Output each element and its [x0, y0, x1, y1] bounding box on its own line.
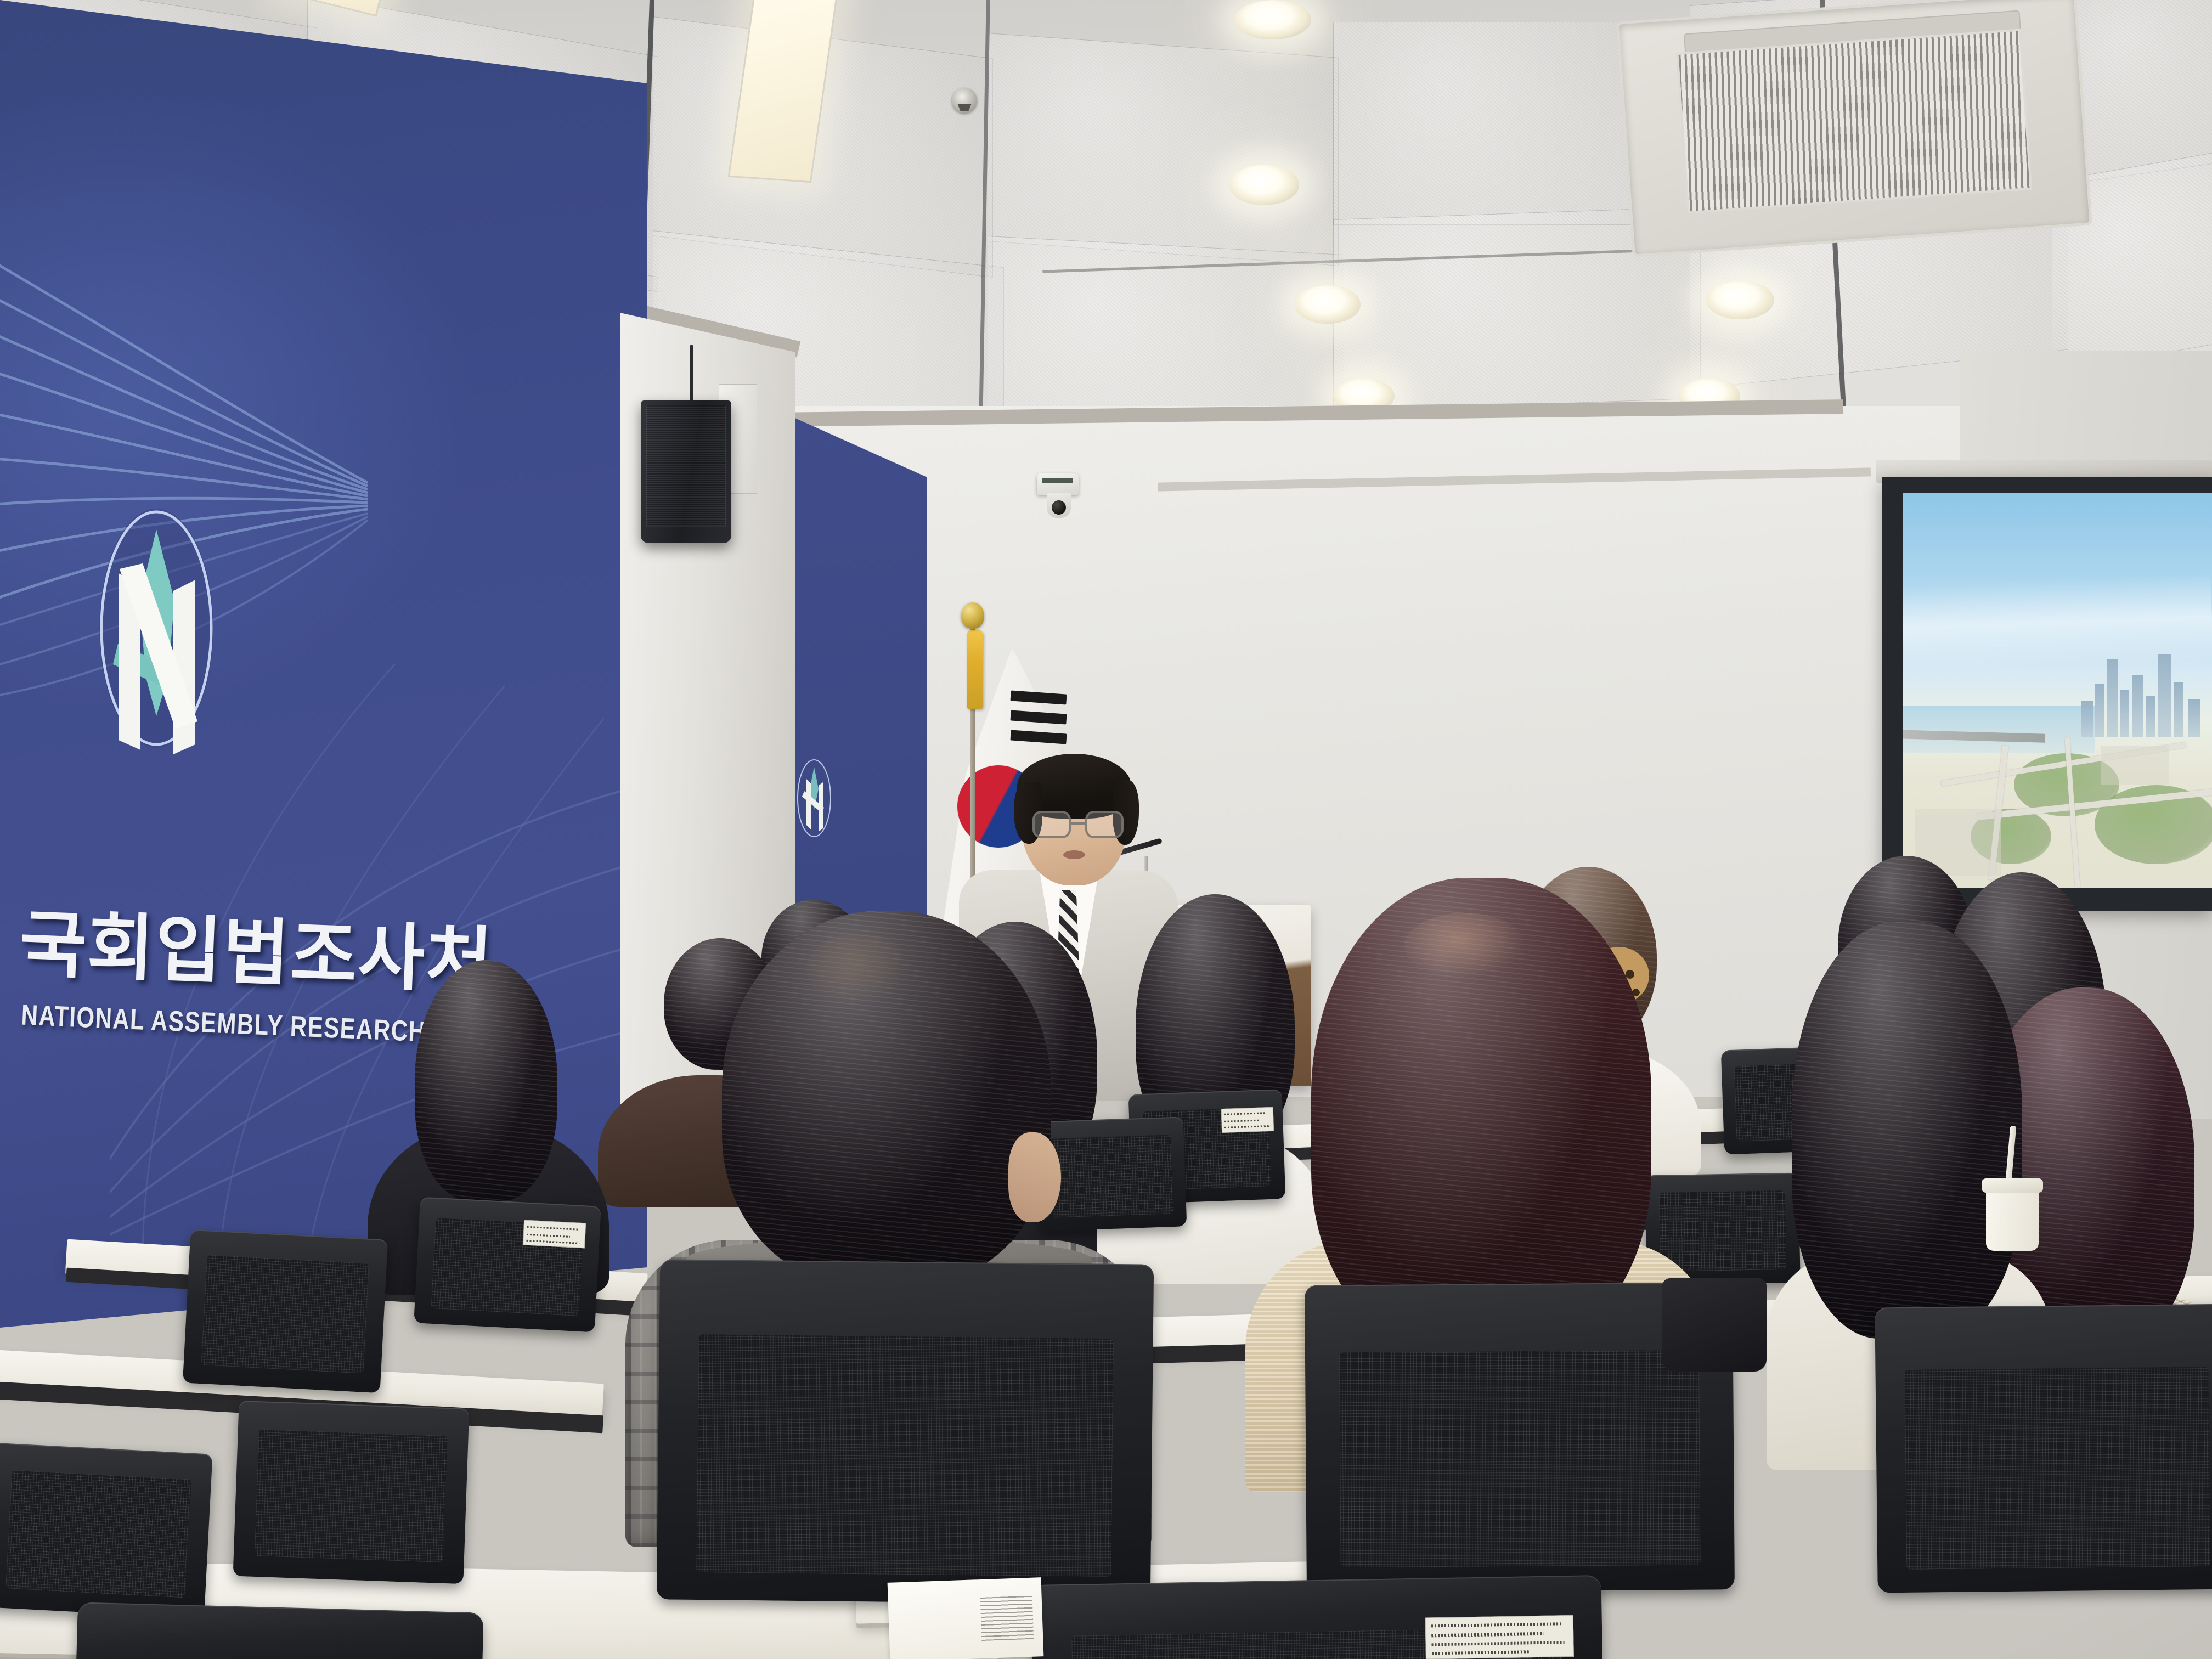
recessed-downlight: [1295, 285, 1361, 324]
fire-sprinkler-head: [952, 88, 977, 113]
audience-head: [1311, 878, 1651, 1350]
presenter-head: [1022, 758, 1127, 885]
recessed-downlight: [1234, 0, 1311, 39]
emblem-small-icon: [788, 757, 840, 839]
flag-tassel: [967, 630, 983, 709]
recessed-downlight: [1706, 281, 1774, 319]
chair-empty[interactable]: [183, 1229, 388, 1393]
handout-text: [980, 1595, 1034, 1641]
flag-finial: [961, 602, 984, 629]
speaker-cable: [690, 345, 693, 405]
security-camera-lens: [1047, 493, 1071, 518]
drink-cup-lid: [1982, 1178, 2043, 1193]
organization-emblem-icon: [66, 496, 247, 760]
projected-cityscape-image: [1903, 493, 2212, 888]
wall-speaker: [641, 400, 731, 543]
audience-head: [722, 911, 1051, 1284]
chair-empty[interactable]: [414, 1197, 601, 1333]
printed-handout: [888, 1577, 1044, 1659]
chair-foreground[interactable]: [1031, 1575, 1603, 1659]
ceiling-air-conditioner: [1616, 0, 2092, 257]
chair-foreground[interactable]: [657, 1259, 1154, 1604]
seminar-room-photo: 국회입법조사처 NATIONAL ASSEMBLY RESEARCH SERVI…: [0, 0, 2212, 1659]
chair-empty[interactable]: [0, 1443, 213, 1619]
asset-label: [523, 1220, 585, 1249]
chair-empty[interactable]: [233, 1401, 470, 1584]
recessed-downlight: [1229, 165, 1299, 205]
backpack: [1662, 1278, 1767, 1372]
chair-foreground[interactable]: [1875, 1304, 2212, 1593]
asset-label: [1425, 1615, 1574, 1659]
security-camera-icon: [1037, 473, 1079, 495]
drink-cup: [1986, 1185, 2039, 1251]
chair-foreground[interactable]: [76, 1602, 483, 1659]
presenter-eyeglasses: [1032, 811, 1124, 838]
